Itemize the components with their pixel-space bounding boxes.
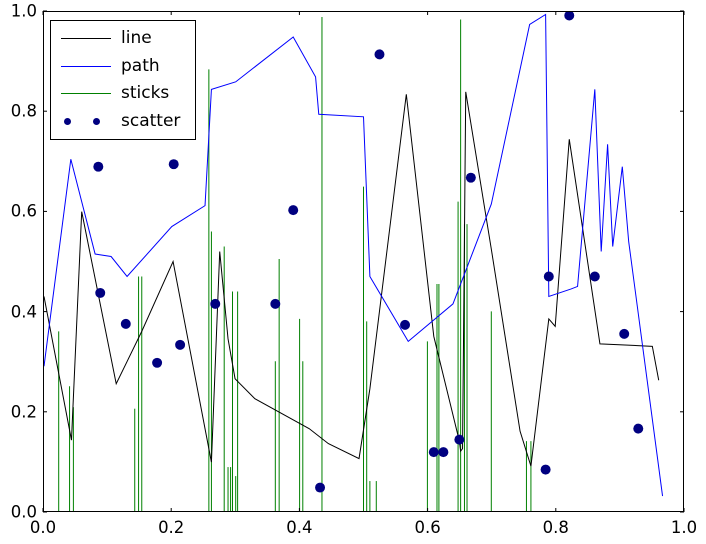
scatter-point: [288, 205, 298, 215]
scatter-point: [169, 159, 179, 169]
scatter-point: [466, 173, 476, 183]
x-tick-label: 0.2: [158, 518, 184, 537]
matplotlib-figure: 0.00.20.40.60.81.00.00.20.40.60.81.0 lin…: [0, 0, 706, 544]
legend-item-path[interactable]: path: [57, 53, 189, 79]
legend-marker-dot-icon: [93, 118, 100, 125]
y-tick-label: 0.0: [11, 503, 37, 522]
scatter-point: [429, 447, 439, 457]
y-tick-label: 0.4: [11, 302, 37, 321]
legend-swatch-sticks-icon: [57, 84, 115, 104]
y-tick-label: 0.2: [11, 402, 37, 421]
scatter-point: [454, 435, 464, 445]
scatter-point: [175, 340, 185, 350]
scatter-point: [544, 271, 554, 281]
legend-marker-line-icon: [61, 38, 111, 39]
legend-label: sticks: [121, 85, 169, 102]
scatter-point: [95, 288, 105, 298]
y-tick-label: 0.8: [11, 102, 37, 121]
legend-marker-dot-icon: [64, 118, 71, 125]
scatter-point: [374, 49, 384, 59]
scatter-point: [633, 424, 643, 434]
scatter-point: [210, 299, 220, 309]
scatter-point: [619, 329, 629, 339]
legend-swatch-path-icon: [57, 56, 115, 76]
legend-swatch-scatter-icon: [57, 111, 115, 131]
x-tick-label: 0.8: [543, 518, 569, 537]
y-tick-label: 1.0: [11, 2, 37, 21]
scatter-point: [590, 271, 600, 281]
legend-item-line[interactable]: line: [57, 26, 189, 52]
x-tick-label: 0.4: [286, 518, 312, 537]
scatter-point: [315, 483, 325, 493]
legend-marker-line-icon: [61, 93, 111, 94]
legend-swatch-line-icon: [57, 29, 115, 49]
legend-label: line: [121, 30, 152, 47]
legend-item-scatter[interactable]: scatter: [57, 108, 189, 134]
scatter-point: [152, 358, 162, 368]
x-tick-label: 1.0: [671, 518, 697, 537]
scatter-point: [93, 162, 103, 172]
legend-label: path: [121, 58, 160, 75]
scatter-point: [121, 319, 131, 329]
legend-item-sticks[interactable]: sticks: [57, 81, 189, 107]
legend-marker-line-icon: [61, 66, 111, 67]
x-tick-label: 0.6: [414, 518, 440, 537]
legend-box[interactable]: linepathsticksscatter: [50, 20, 196, 140]
scatter-point: [564, 12, 574, 20]
scatter-point: [270, 299, 280, 309]
scatter-point: [400, 320, 410, 330]
scatter-point: [541, 465, 551, 475]
scatter-point: [438, 447, 448, 457]
y-tick-label: 0.6: [11, 202, 37, 221]
legend-label: scatter: [121, 113, 180, 130]
